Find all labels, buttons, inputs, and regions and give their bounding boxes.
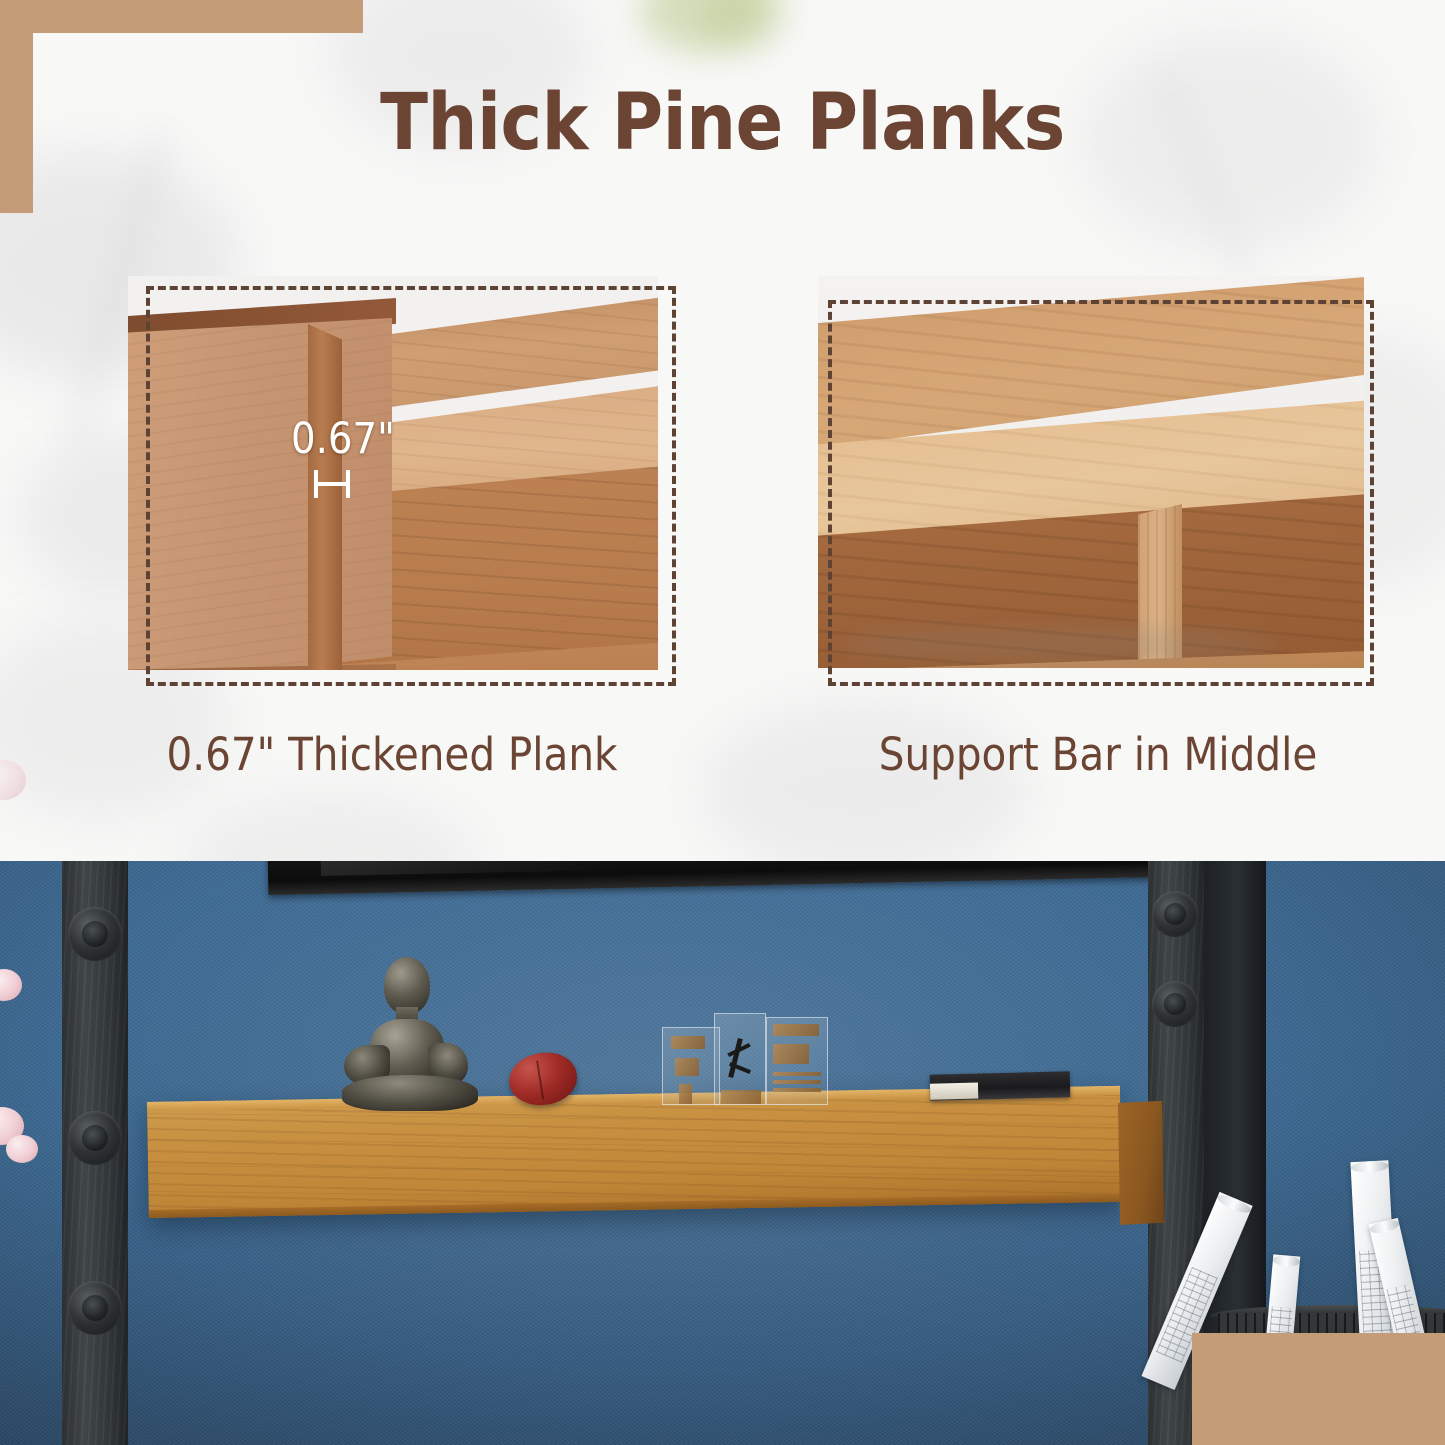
green-leaf-shadow — [640, 0, 770, 52]
glass-display-cubes — [662, 1009, 834, 1105]
dark-figure-inside — [728, 1038, 743, 1078]
product-feature-poster: Thick Pine Planks 0.67" — [0, 0, 1445, 1445]
roll-end-cap — [1350, 1160, 1389, 1173]
thickened-plank-photo: 0.67" — [128, 276, 658, 670]
wood-chip-inside — [679, 1084, 692, 1104]
speaker-driver — [68, 1111, 122, 1165]
speaker-driver — [68, 907, 122, 961]
black-book — [930, 1071, 1071, 1100]
glass-cube — [766, 1017, 828, 1105]
leaf-shadow — [180, 790, 480, 861]
dimension-label: 0.67" — [291, 414, 395, 464]
speaker-driver-cone — [1164, 993, 1186, 1015]
glass-cube — [662, 1027, 720, 1105]
speaker-driver — [68, 1281, 122, 1335]
wood-chip-inside — [773, 1072, 821, 1076]
box-left-face — [128, 318, 392, 670]
dimension-line-horizontal — [316, 482, 350, 486]
floating-wooden-shelf — [147, 1086, 1122, 1218]
feature-card-thickened-plank: 0.67" 0.67" Thickened Plank — [128, 276, 676, 796]
wood-chip-inside — [773, 1044, 809, 1064]
dimension-tick-left — [314, 470, 318, 498]
wood-chip-inside — [671, 1036, 705, 1049]
support-bar-photo — [818, 276, 1364, 668]
blossom-shadow — [0, 760, 26, 800]
roll-end-cap — [1272, 1254, 1300, 1267]
speaker-driver-cone — [1164, 903, 1186, 925]
speaker-driver-cone — [82, 1125, 108, 1151]
feature-caption-thickened-plank: 0.67" Thickened Plank — [118, 728, 666, 781]
shelf-end-cap — [1118, 1101, 1164, 1225]
wood-chip-inside — [721, 1090, 761, 1104]
cherry-blossom — [6, 1135, 38, 1163]
corner-block-decoration — [1192, 1333, 1445, 1445]
page-title: Thick Pine Planks — [0, 78, 1445, 168]
pine-box-photo-content: 0.67" — [128, 276, 658, 670]
wood-chip-inside — [773, 1080, 821, 1084]
green-leaf-shadow — [700, 0, 784, 50]
buddha-statue — [330, 957, 480, 1109]
statue-head — [384, 957, 430, 1014]
header-panel: Thick Pine Planks 0.67" — [0, 0, 1445, 861]
glass-cube — [714, 1013, 766, 1105]
egg-seam — [536, 1061, 544, 1099]
wood-chip-inside — [773, 1024, 819, 1036]
book-pages — [930, 1082, 978, 1099]
dimension-tick-right — [346, 470, 350, 498]
corner-bracket-horizontal-arm — [0, 0, 363, 33]
wood-chip-inside — [675, 1058, 699, 1076]
speaker-driver-cone — [82, 1295, 108, 1321]
speaker-pillar-left — [62, 861, 128, 1445]
tv-screen-glint — [321, 861, 622, 876]
speaker-driver — [1152, 891, 1198, 937]
photo-floor-shadow — [840, 628, 1277, 662]
feature-caption-support-bar: Support Bar in Middle — [818, 728, 1378, 781]
speaker-driver-cone — [82, 921, 108, 947]
feature-card-support-bar: Support Bar in Middle — [818, 276, 1378, 796]
support-bar-photo-content — [818, 276, 1364, 668]
speaker-driver — [1152, 981, 1198, 1027]
wood-chip-inside — [773, 1088, 821, 1092]
statue-lap — [342, 1075, 478, 1111]
